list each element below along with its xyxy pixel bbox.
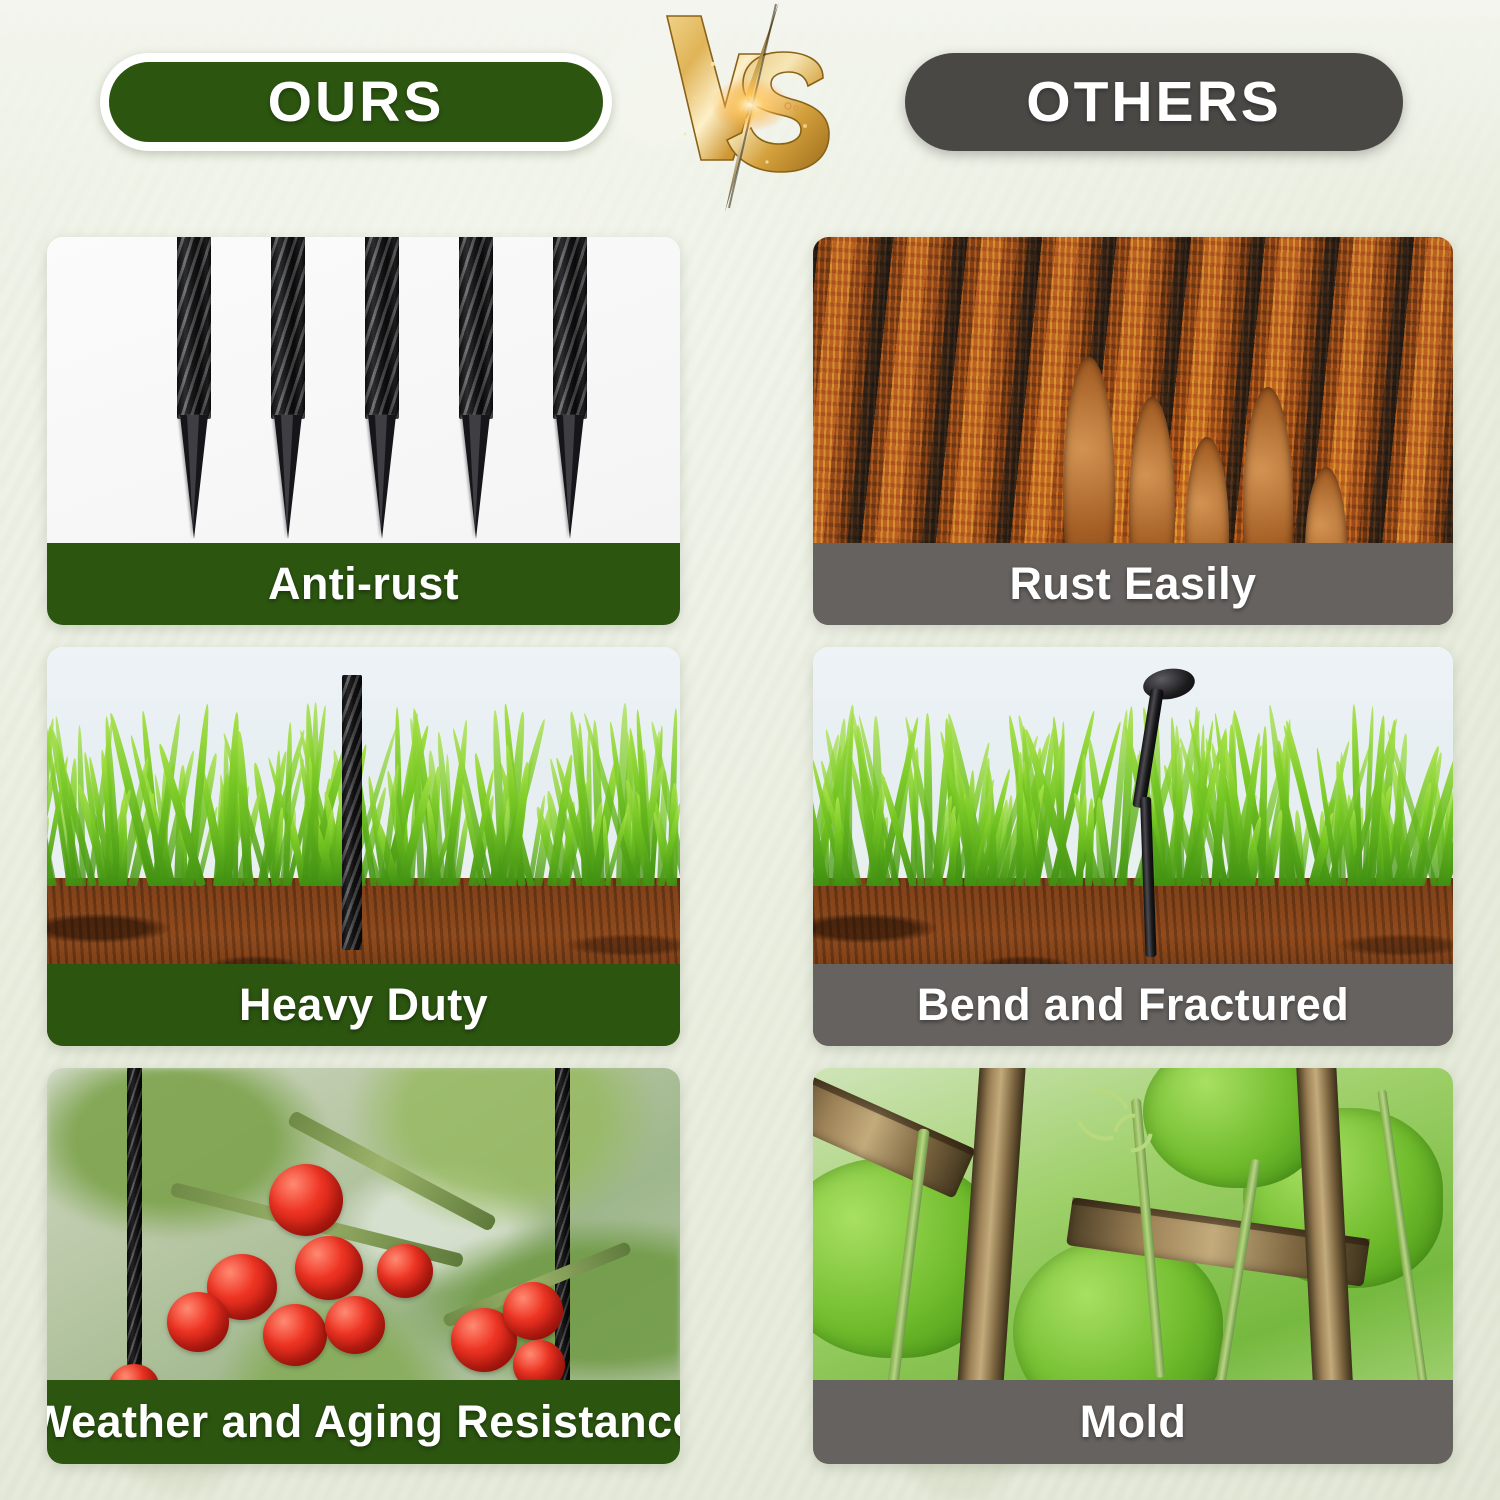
card-label-heavy-duty: Heavy Duty bbox=[47, 964, 680, 1046]
comparison-card-ours-anti-rust: Anti-rust bbox=[47, 237, 680, 625]
vs-lightning-icon bbox=[655, 2, 845, 212]
card-label-anti-rust: Anti-rust bbox=[47, 543, 680, 625]
card-label-rust-easily: Rust Easily bbox=[813, 543, 1453, 625]
comparison-grid: Anti-rust Rust Easily Heavy Duty bbox=[47, 237, 1453, 1465]
card-label-mold: Mold bbox=[813, 1380, 1453, 1464]
comparison-header: OURS bbox=[0, 0, 1500, 215]
grass-blade bbox=[311, 702, 319, 887]
comparison-card-ours-heavy-duty: Heavy Duty bbox=[47, 647, 680, 1046]
others-badge: OTHERS bbox=[905, 53, 1403, 151]
comparison-card-others-rust-easily: Rust Easily bbox=[813, 237, 1453, 625]
grass-layer bbox=[47, 699, 680, 887]
ours-badge: OURS bbox=[100, 53, 612, 151]
card-label-weather-and-aging-resistance: Weather and Aging Resistance bbox=[47, 1380, 680, 1464]
comparison-card-others-mold: Mold bbox=[813, 1068, 1453, 1464]
card-label-bend-and-fractured: Bend and Fractured bbox=[813, 964, 1453, 1046]
comparison-card-others-bend-fractured: Bend and Fractured bbox=[813, 647, 1453, 1046]
grass-layer bbox=[813, 699, 1453, 887]
grass-blade bbox=[119, 799, 127, 886]
comparison-card-ours-weather-resistance: Weather and Aging Resistance bbox=[47, 1068, 680, 1464]
